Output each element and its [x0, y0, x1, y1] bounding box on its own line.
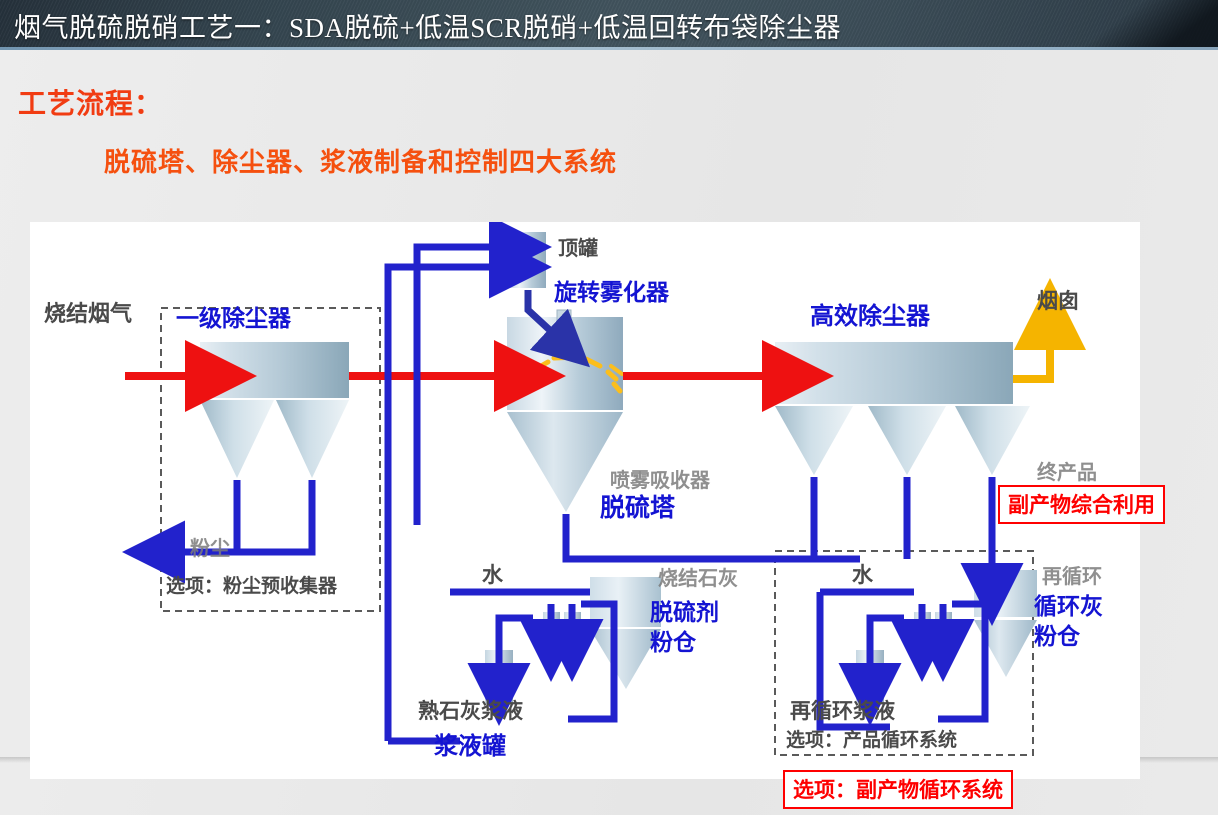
label-primary-dust-collector: 一级除尘器	[176, 306, 291, 332]
label-recirculated-slurry: 再循环浆液	[790, 700, 895, 724]
label-chimney: 烟囱	[1037, 290, 1079, 314]
label-top-tank: 顶罐	[558, 238, 598, 260]
label-desulfurizer-silo-line2: 粉仓	[650, 630, 696, 656]
label-water-right: 水	[852, 564, 873, 588]
label-desulfurizer-silo-line1: 脱硫剂	[650, 600, 719, 626]
label-desulfurization-tower: 脱硫塔	[600, 494, 675, 522]
label-slurry-tank: 浆液罐	[434, 734, 506, 761]
label-byproduct: 终产品	[1037, 462, 1097, 484]
section-heading-process-flow: 工艺流程：	[18, 82, 163, 122]
label-byproduct-utilization: 副产物综合利用	[998, 485, 1165, 524]
equipment-high-efficiency-dust-collector	[775, 342, 1030, 475]
label-option-dust-precollector: 选项：粉尘预收集器	[166, 576, 337, 597]
label-quicklime: 烧结石灰	[658, 568, 738, 590]
label-rotary-atomizer: 旋转雾化器	[554, 280, 669, 306]
label-recycle-ash-silo-line2: 粉仓	[1034, 624, 1080, 650]
equipment-desulfurization-tower	[507, 310, 623, 512]
slide-title: 烟气脱硫脱硝工艺一：SDA脱硫+低温SCR脱硝+低温回转布袋除尘器	[14, 6, 841, 45]
section-subheading-four-systems: 脱硫塔、除尘器、浆液制备和控制四大系统	[104, 142, 617, 179]
equipment-top-tank	[508, 232, 546, 288]
clean-gas-chimney-path	[1013, 342, 1050, 379]
process-flow-diagram: 烧结烟气 一级除尘器 粉尘 选项：粉尘预收集器 顶罐 旋转雾化器 喷雾吸收器 脱…	[30, 222, 1140, 779]
label-recirculation: 再循环	[1042, 566, 1102, 588]
label-spray-absorber: 喷雾吸收器	[610, 470, 710, 492]
label-slaked-lime-slurry: 熟石灰浆液	[418, 700, 523, 724]
label-water-left: 水	[482, 564, 503, 588]
label-high-efficiency-dust-collector: 高效除尘器	[810, 304, 930, 331]
label-option-product-recycle: 选项：产品循环系统	[786, 730, 957, 751]
label-option-byproduct-recycle-system: 选项：副产物循环系统	[783, 770, 1013, 809]
equipment-primary-dust-collector	[200, 342, 349, 478]
label-dust: 粉尘	[190, 538, 230, 560]
slide-title-bar: 烟气脱硫脱硝工艺一：SDA脱硫+低温SCR脱硝+低温回转布袋除尘器	[0, 0, 1218, 50]
label-recycle-ash-silo-line1: 循环灰	[1034, 594, 1103, 620]
label-flue-gas-inlet: 烧结烟气	[44, 302, 132, 327]
